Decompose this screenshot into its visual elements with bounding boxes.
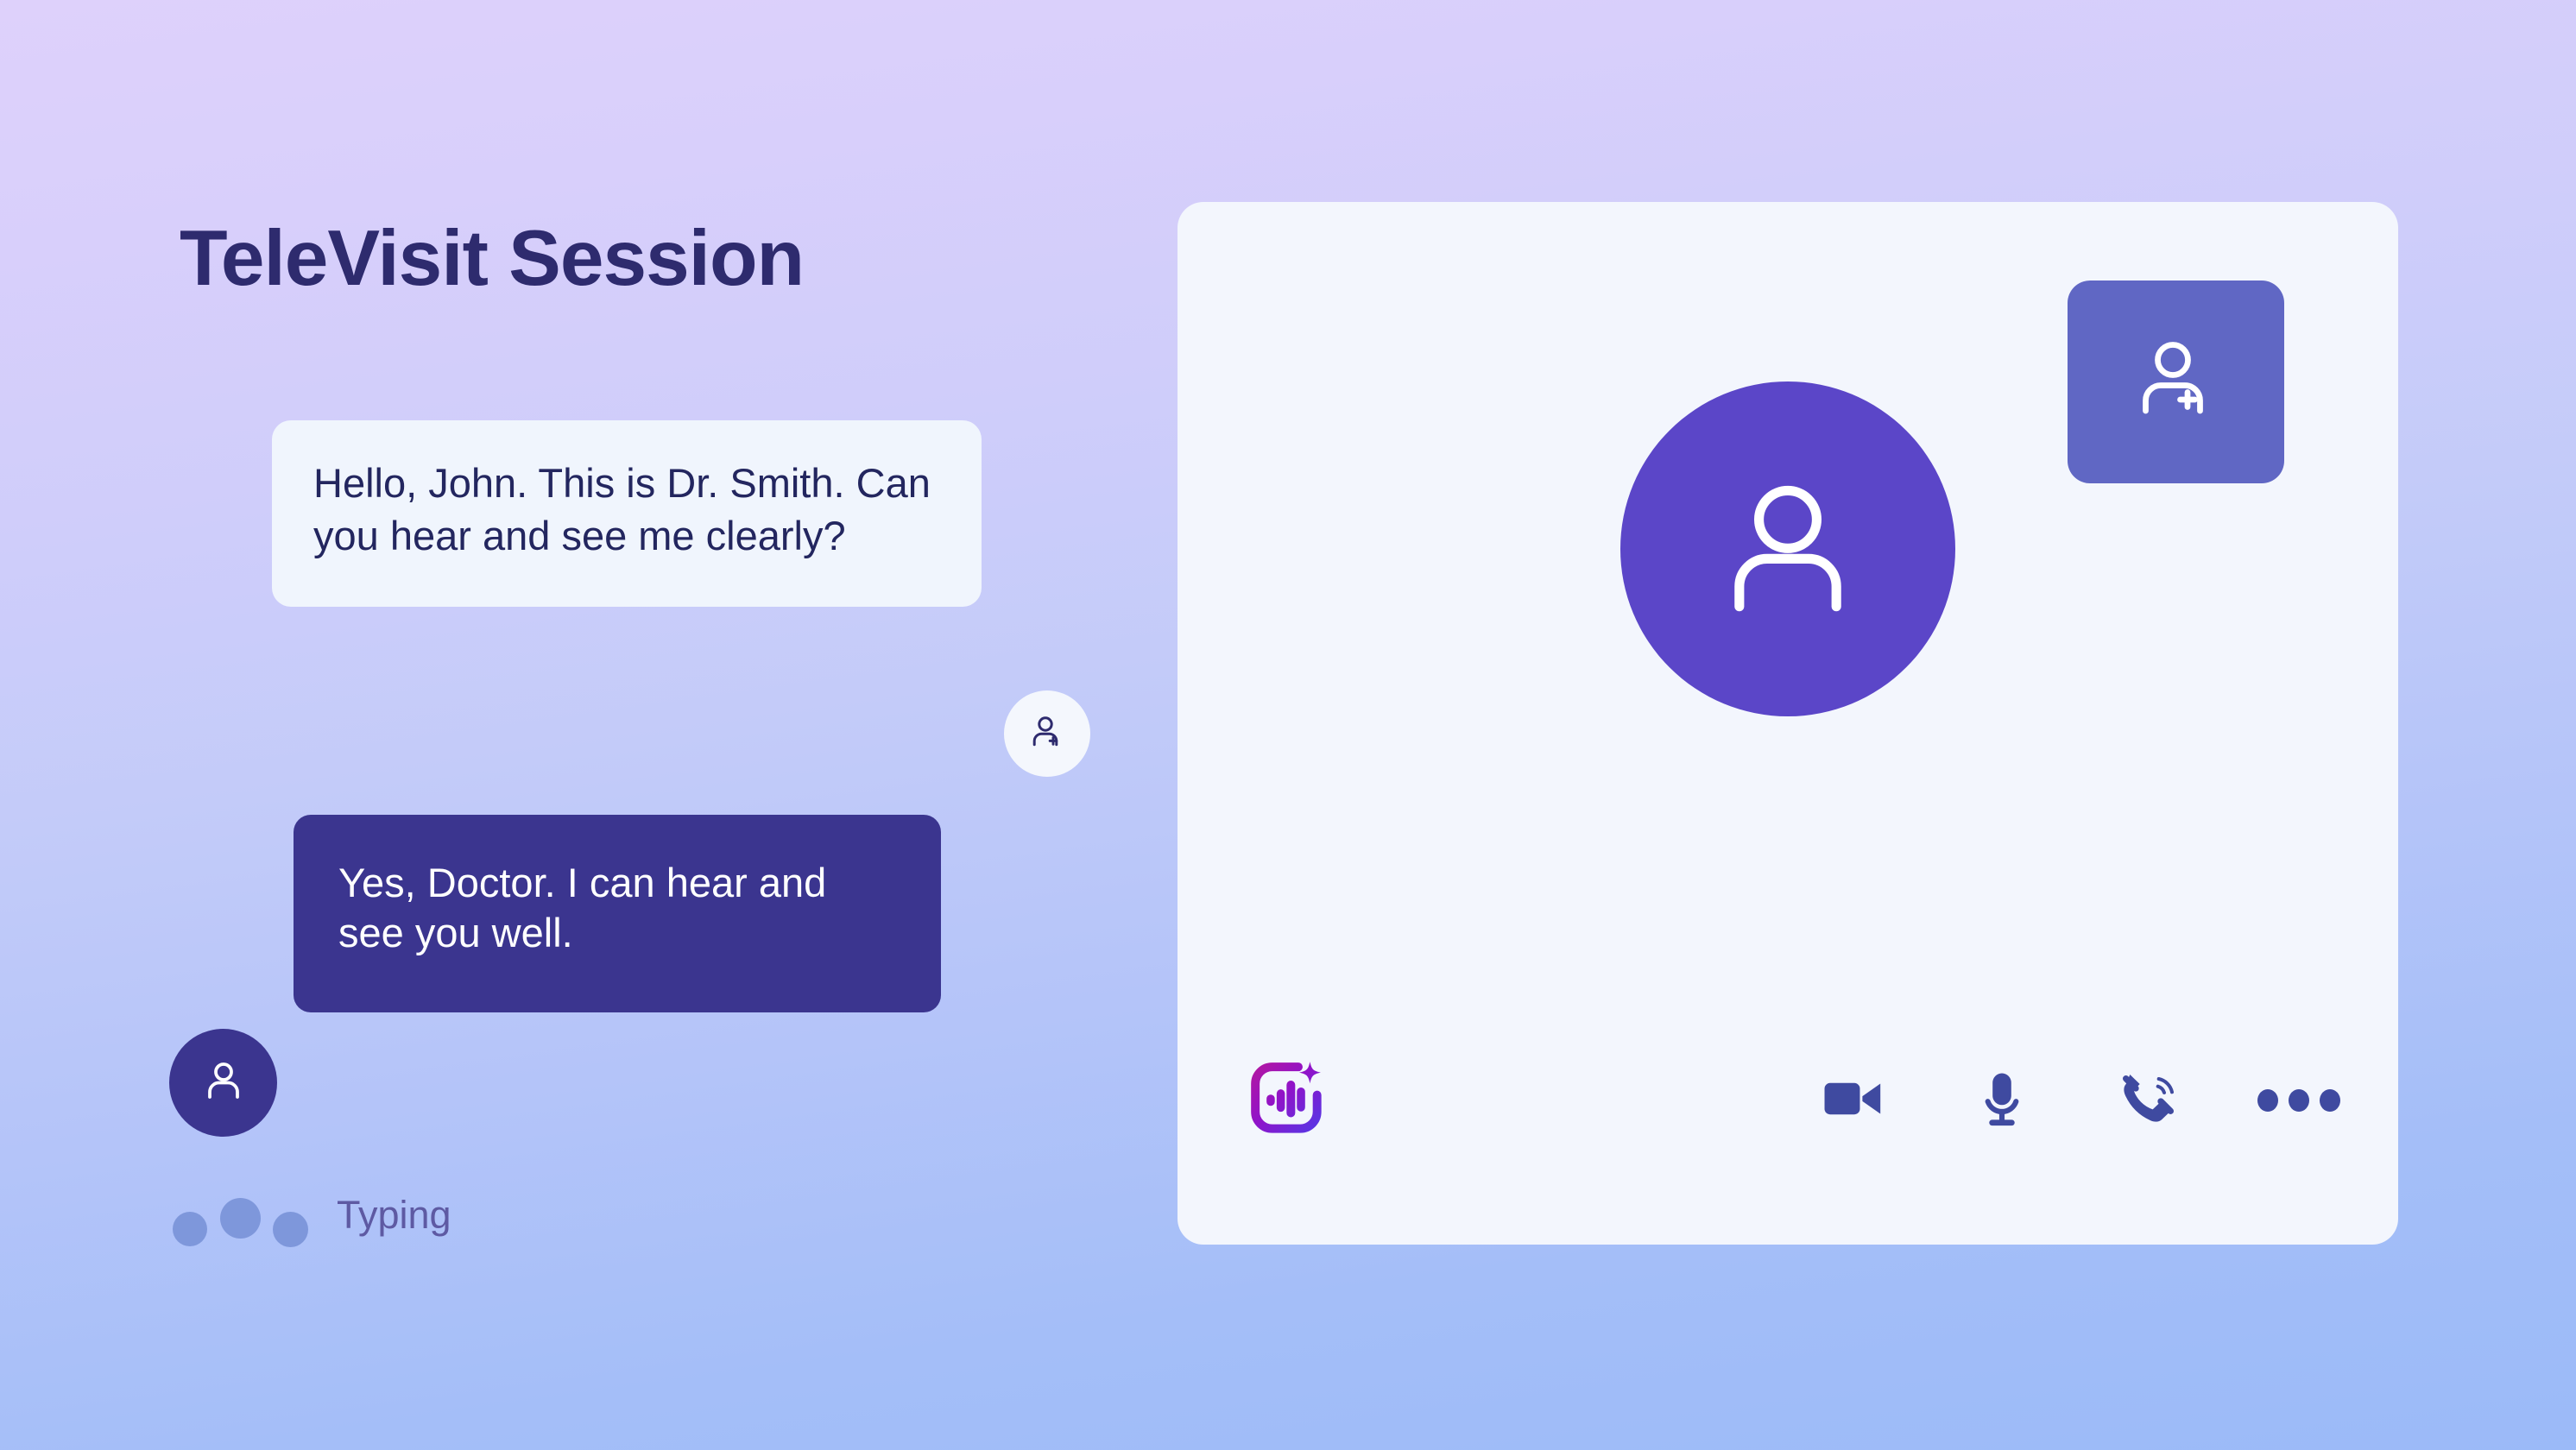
call-control-bar: [1178, 1053, 2398, 1148]
chat-add-participant-avatar[interactable]: [1004, 690, 1090, 777]
typing-dot: [220, 1198, 261, 1239]
typing-indicator: Typing: [169, 1184, 773, 1262]
microphone-button[interactable]: [1960, 1058, 2044, 1143]
ai-voice-sparkle-icon: [1242, 1054, 1332, 1148]
typing-dot: [273, 1212, 308, 1247]
telehealth-session-screen: TeleVisit Session Hello, John. This is D…: [0, 0, 2576, 1450]
participant-avatar: [1620, 381, 1955, 716]
media-controls: [1811, 1053, 2341, 1148]
chat-message-text: Yes, Doctor. I can hear and see you well…: [338, 858, 896, 959]
chat-message-text: Hello, John. This is Dr. Smith. Can you …: [313, 457, 940, 562]
more-options-icon: [2257, 1089, 2278, 1112]
chat-bubble-patient: Yes, Doctor. I can hear and see you well…: [294, 815, 941, 1012]
video-camera-icon: [1820, 1065, 1887, 1137]
more-options-icon: [2289, 1089, 2309, 1112]
more-options-button[interactable]: [2257, 1058, 2341, 1143]
patient-avatar: [169, 1029, 277, 1137]
more-options-icon: [2320, 1089, 2340, 1112]
add-participant-button[interactable]: [2068, 281, 2284, 483]
person-icon: [198, 1055, 249, 1111]
typing-label: Typing: [337, 1193, 451, 1238]
typing-dot: [173, 1212, 207, 1246]
chat-bubble-doctor: Hello, John. This is Dr. Smith. Can you …: [272, 420, 982, 607]
video-call-panel: [1178, 202, 2398, 1245]
ai-assist-button[interactable]: [1240, 1053, 1335, 1148]
microphone-icon: [1972, 1069, 2032, 1133]
phone-ringing-icon: [2116, 1064, 2185, 1138]
phone-ringing-button[interactable]: [2108, 1058, 2193, 1143]
person-add-icon: [2125, 328, 2228, 436]
page-title: TeleVisit Session: [180, 214, 804, 304]
person-icon: [1695, 455, 1880, 644]
person-add-icon: [1026, 711, 1068, 757]
video-camera-button[interactable]: [1811, 1058, 1896, 1143]
